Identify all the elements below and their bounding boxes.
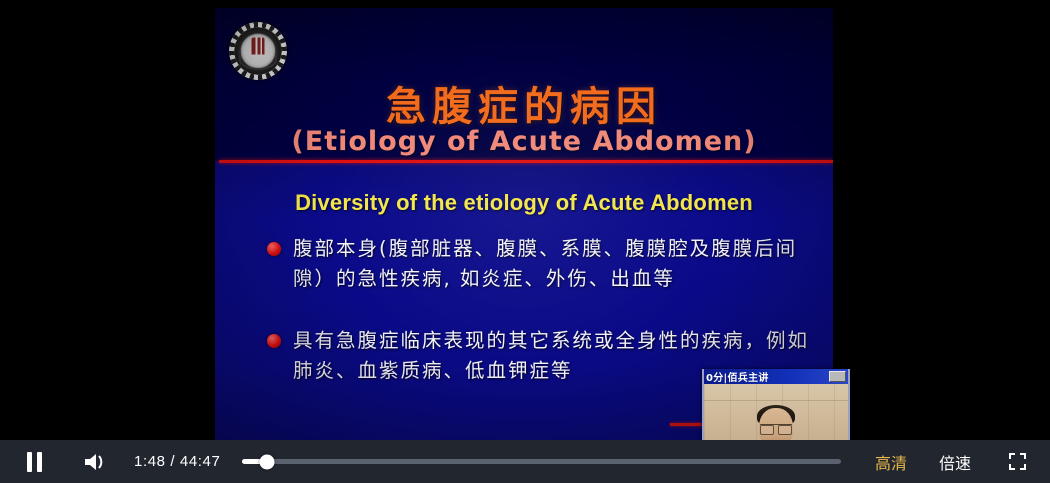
quality-button[interactable]: 高清 (859, 440, 923, 483)
university-hospital-emblem-icon (229, 22, 287, 80)
pip-title-text: 0分|佰兵主讲 (706, 369, 769, 384)
pip-title-bar[interactable]: 0分|佰兵主讲 (704, 369, 848, 384)
progress-handle[interactable] (259, 454, 274, 469)
progress-bar[interactable] (242, 440, 841, 483)
slide-subtitle: Diversity of the etiology of Acute Abdom… (215, 190, 833, 216)
slide-bullet-text: 腹部本身(腹部脏器、腹膜、系膜、腹膜腔及腹膜后间隙）的急性疾病, 如炎症、外伤、… (293, 237, 797, 290)
video-player[interactable]: 急腹症的病因 (Etiology of Acute Abdomen) Diver… (0, 0, 1050, 483)
slide-bullet-item: 腹部本身(腹部脏器、腹膜、系膜、腹膜腔及腹膜后间隙）的急性疾病, 如炎症、外伤、… (293, 234, 813, 294)
pip-background-line (704, 400, 848, 401)
time-display: 1:48 / 44:47 (134, 453, 220, 470)
player-control-bar[interactable]: 1:48 / 44:47 高清 倍速 (0, 440, 1050, 483)
emblem-ring (229, 22, 287, 80)
slide-title-chinese: 急腹症的病因 (215, 74, 833, 132)
pause-button[interactable] (14, 440, 54, 483)
bullet-dot-icon (267, 242, 281, 256)
slide-title-english: (Etiology of Acute Abdomen) (215, 126, 833, 157)
fullscreen-icon (1009, 453, 1026, 470)
video-stage[interactable]: 急腹症的病因 (Etiology of Acute Abdomen) Diver… (0, 0, 1050, 454)
speaker-icon (82, 451, 108, 473)
pip-minimize-button[interactable] (829, 371, 846, 382)
volume-button[interactable] (72, 440, 118, 483)
fullscreen-button[interactable] (987, 440, 1036, 483)
playback-speed-button[interactable]: 倍速 (923, 440, 987, 483)
lecturer-glasses (760, 424, 792, 433)
slide-title-divider (219, 160, 833, 163)
progress-track[interactable] (242, 459, 841, 464)
pause-icon (27, 452, 42, 472)
bullet-dot-icon (267, 334, 281, 348)
